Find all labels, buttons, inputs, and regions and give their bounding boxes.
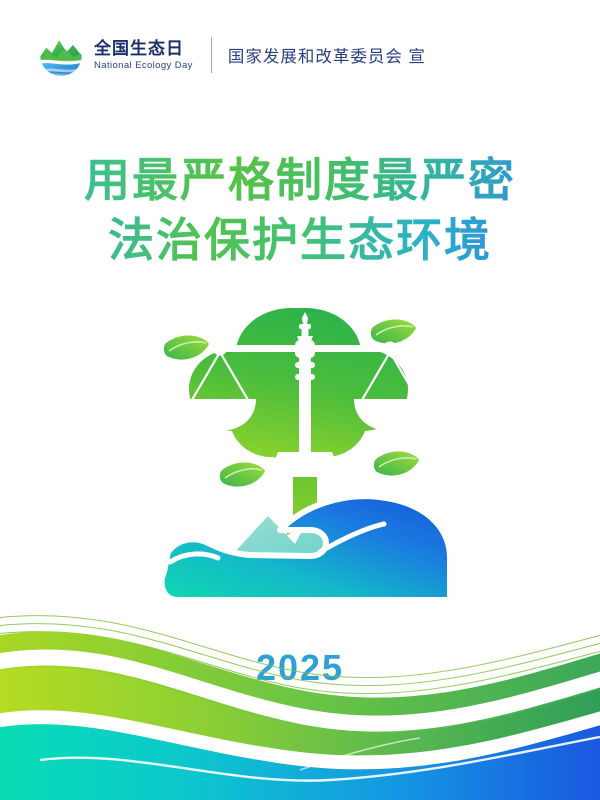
logo-title-en: National Ecology Day bbox=[94, 60, 193, 71]
title-line-1: 用最严格制度最严密 bbox=[0, 150, 600, 210]
leaf-icon-bottom-right bbox=[374, 452, 419, 476]
logo-title-cn: 全国生态日 bbox=[94, 39, 193, 59]
leaf-icon-bottom-left bbox=[220, 463, 265, 487]
poster-header: 全国生态日 National Ecology Day 国家发展和改革委员会 宣 bbox=[38, 30, 426, 80]
poster-canvas: 全国生态日 National Ecology Day 国家发展和改革委员会 宣 … bbox=[0, 0, 600, 800]
logo-wordmark: 全国生态日 National Ecology Day bbox=[94, 39, 193, 71]
title-line-2: 法治保护生态环境 bbox=[0, 210, 600, 270]
leaf-icon-left bbox=[164, 336, 209, 360]
tree-with-scales-of-justice-in-hand-illustration bbox=[160, 300, 450, 600]
issuing-organization: 国家发展和改革委员会 宣 bbox=[228, 43, 426, 67]
header-divider bbox=[211, 37, 212, 73]
ecology-mountain-water-circle-icon bbox=[38, 32, 84, 78]
poster-title: 用最严格制度最严密 法治保护生态环境 bbox=[0, 150, 600, 270]
decorative-wave-band bbox=[0, 610, 600, 800]
leaf-icon-top-right bbox=[371, 320, 416, 344]
